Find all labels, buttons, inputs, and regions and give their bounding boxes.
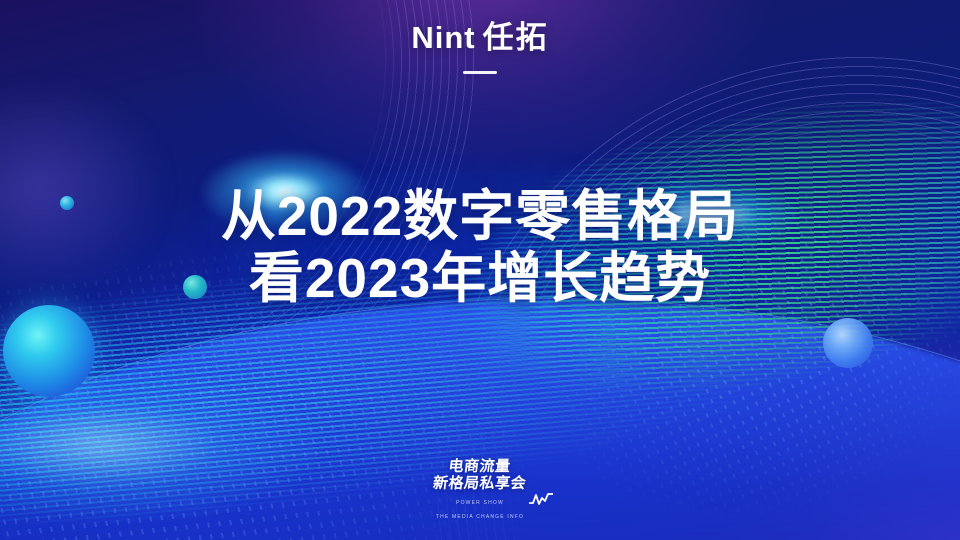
page-title-line-1: 从2022数字零售格局 — [0, 186, 960, 248]
brand-logo-cn: 任拓 — [483, 20, 549, 55]
event-badge-subtext-2: THE MEDIA CHANGE INFO — [433, 513, 526, 521]
brand-logo-latin: Nint — [411, 20, 475, 55]
event-badge-line-2: 新格局私享会 — [432, 475, 527, 492]
slide-content: Nint任拓 从2022数字零售格局 看2023年增长趋势 电商流量 新格局私享… — [0, 0, 960, 540]
event-badge: 电商流量 新格局私享会 POWER SHOW THE MEDIA CHANGE … — [0, 458, 960, 523]
page-title: 从2022数字零售格局 看2023年增长趋势 — [0, 186, 960, 309]
brand-logo: Nint任拓 — [411, 22, 548, 53]
event-badge-wrap: 电商流量 新格局私享会 POWER SHOW THE MEDIA CHANGE … — [433, 458, 526, 521]
brand-divider-rule — [463, 71, 497, 74]
title-slide: Nint任拓 从2022数字零售格局 看2023年增长趋势 电商流量 新格局私享… — [0, 0, 960, 540]
brand-lockup: Nint任拓 — [0, 22, 960, 74]
page-title-line-2: 看2023年增长趋势 — [0, 248, 960, 310]
event-badge-subtext-1: POWER SHOW — [433, 499, 526, 507]
waveform-icon — [529, 492, 553, 506]
event-badge-line-1: 电商流量 — [432, 458, 527, 475]
